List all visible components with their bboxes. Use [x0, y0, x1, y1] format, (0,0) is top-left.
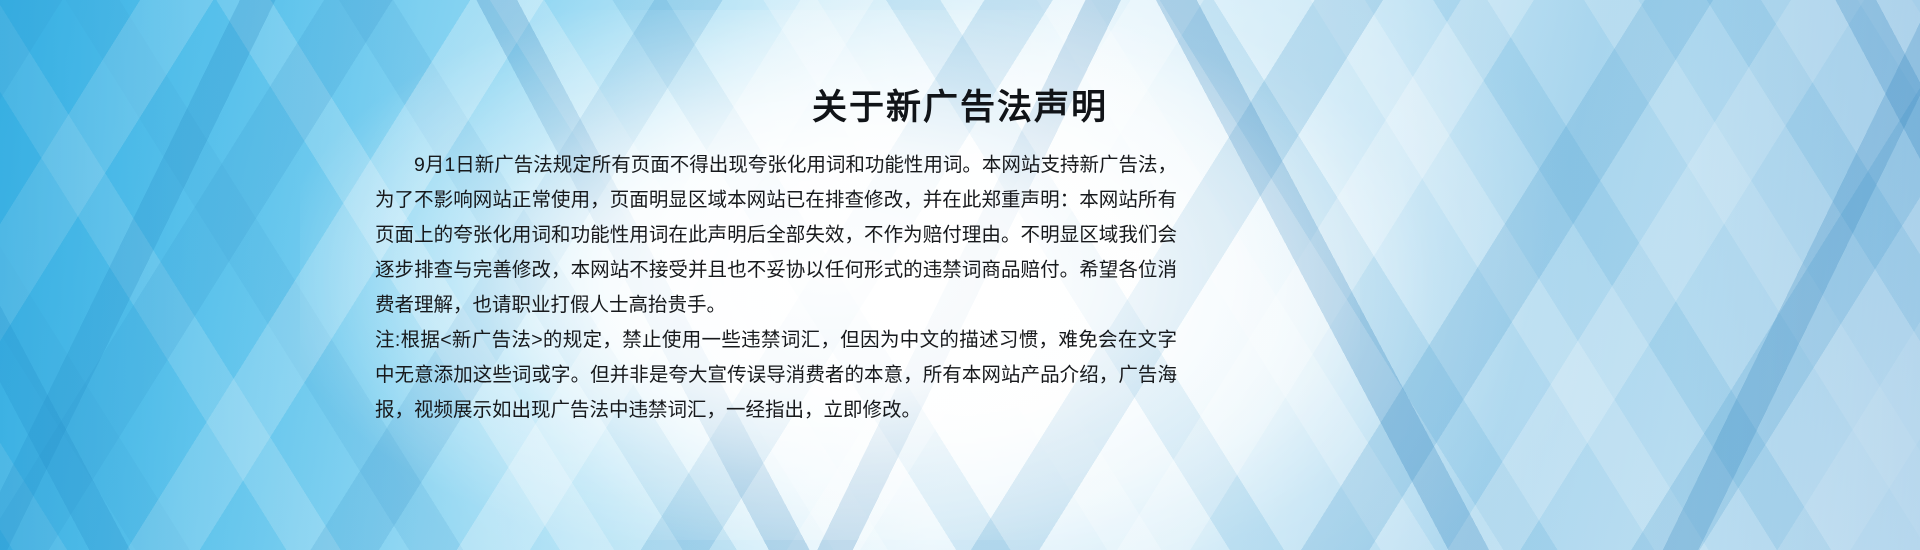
statement-paragraph-note: 注:根据<新广告法>的规定，禁止使用一些违禁词汇，但因为中文的描述习惯，难免会在… [375, 323, 1177, 428]
statement-paragraph-main: 9月1日新广告法规定所有页面不得出现夸张化用词和功能性用词。本网站支持新广告法，… [375, 148, 1177, 323]
advertising-law-statement-banner: 关于新广告法声明 9月1日新广告法规定所有页面不得出现夸张化用词和功能性用词。本… [0, 0, 1920, 550]
banner-content: 关于新广告法声明 9月1日新广告法规定所有页面不得出现夸张化用词和功能性用词。本… [0, 0, 1920, 550]
page-title: 关于新广告法声明 [0, 86, 1920, 130]
statement-body: 9月1日新广告法规定所有页面不得出现夸张化用词和功能性用词。本网站支持新广告法，… [375, 148, 1177, 428]
